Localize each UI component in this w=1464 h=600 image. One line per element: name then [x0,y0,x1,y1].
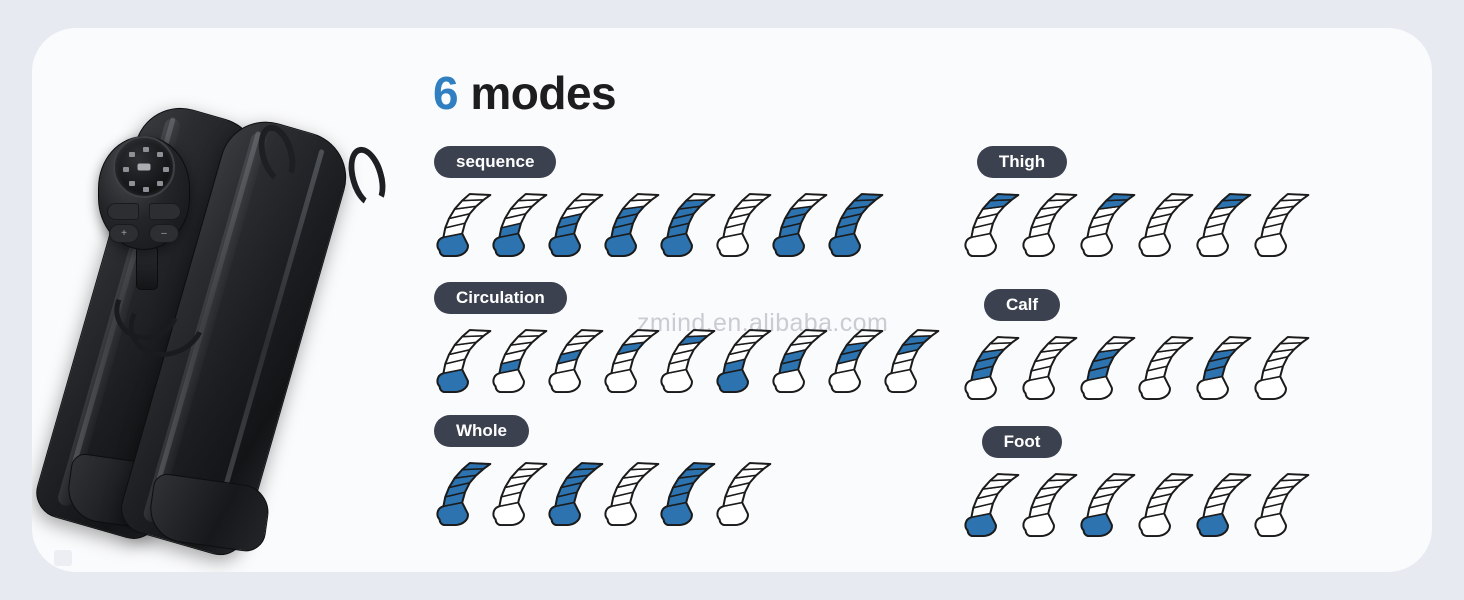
dial-marker-icon [129,181,135,186]
mode-badge-circulation[interactable]: Circulation [434,282,567,314]
leg-diagram [1136,186,1198,266]
product-feature-card: + – 6 modes zmind.en.alibaba.com sequenc… [32,28,1432,572]
mode-badge-wrap: Whole [434,415,974,449]
mode-block-thigh: Thigh [962,146,1362,266]
leg-diagram [1136,466,1198,546]
mode-badge-calf[interactable]: Calf [984,289,1060,321]
product-photo: + – [32,28,432,572]
leg-diagram [434,322,496,402]
leg-diagram [1020,186,1082,266]
leg-diagram [434,186,496,266]
title-number: 6 [433,67,458,119]
mode-badge-wrap: Circulation [434,282,974,316]
dial-marker-icon [163,167,169,172]
dial-marker-icon [143,187,149,192]
dial-marker-icon [157,181,163,186]
leg-diagram [1020,466,1082,546]
leg-diagram [546,455,608,535]
dial-marker-icon [129,152,135,157]
leg-diagram [658,455,720,535]
leg-diagram [962,186,1024,266]
dial-marker-icon [157,152,163,157]
leg-diagram [826,322,888,402]
leg-sequence-whole [434,455,974,535]
leg-diagram [546,322,608,402]
mode-badge-thigh[interactable]: Thigh [977,146,1067,178]
leg-diagram [1252,186,1314,266]
leg-diagram [714,186,776,266]
leg-diagram [434,455,496,535]
mode-block-circulation: Circulation [434,282,974,402]
leg-diagram [770,322,832,402]
hose-connector [136,246,158,290]
leg-diagram [962,466,1024,546]
mode-left-button [107,203,139,220]
mode-block-sequence: sequence [434,146,974,266]
leg-diagram [1078,466,1140,546]
leg-diagram [962,329,1024,409]
control-dial-icon [113,136,175,198]
title-word: modes [458,67,616,119]
mode-badge-wrap: Thigh [962,146,1082,180]
mode-badge-wrap: Foot [962,426,1082,460]
mode-badge-foot[interactable]: Foot [982,426,1063,458]
leg-sequence-thigh [962,186,1362,266]
mode-block-whole: Whole [434,415,974,535]
leg-diagram [1136,329,1198,409]
mode-badge-wrap: sequence [434,146,974,180]
leg-sequence-foot [962,466,1362,546]
leg-sequence-calf [962,329,1362,409]
mode-right-button [149,203,181,220]
leg-diagram [1194,329,1256,409]
handheld-controller: + – [98,136,190,250]
leg-diagram [1252,466,1314,546]
leg-diagram [490,322,552,402]
leg-diagram [602,322,664,402]
leg-diagram [714,455,776,535]
leg-diagram [1078,186,1140,266]
minus-button: – [149,224,179,243]
leg-diagram [770,186,832,266]
leg-diagram [490,455,552,535]
plus-button: + [109,224,139,243]
leg-diagram [490,186,552,266]
mode-badge-whole[interactable]: Whole [434,415,529,447]
mode-badge-sequence[interactable]: sequence [434,146,556,178]
leg-diagram [602,455,664,535]
mode-block-foot: Foot [962,426,1362,546]
leg-diagram [1194,466,1256,546]
leg-diagram [1078,329,1140,409]
leg-diagram [882,322,944,402]
leg-diagram [658,322,720,402]
page-title: 6 modes [433,66,616,120]
leg-sequence-sequence [434,186,974,266]
leg-diagram [546,186,608,266]
leg-sequence-circulation [434,322,974,402]
image-corner-artifact [54,550,72,566]
air-hose-loop [342,143,392,212]
dial-center-icon [138,164,151,171]
leg-diagram [602,186,664,266]
leg-diagram [1194,186,1256,266]
dial-marker-icon [123,167,129,172]
zipper-icon [219,149,324,500]
leg-diagram [714,322,776,402]
dial-marker-icon [143,147,149,152]
leg-diagram [826,186,888,266]
leg-diagram [1020,329,1082,409]
mode-badge-wrap: Calf [962,289,1082,323]
leg-diagram [1252,329,1314,409]
modes-panel: 6 modes zmind.en.alibaba.com sequenceCir… [432,28,1432,572]
mode-block-calf: Calf [962,289,1362,409]
leg-diagram [658,186,720,266]
